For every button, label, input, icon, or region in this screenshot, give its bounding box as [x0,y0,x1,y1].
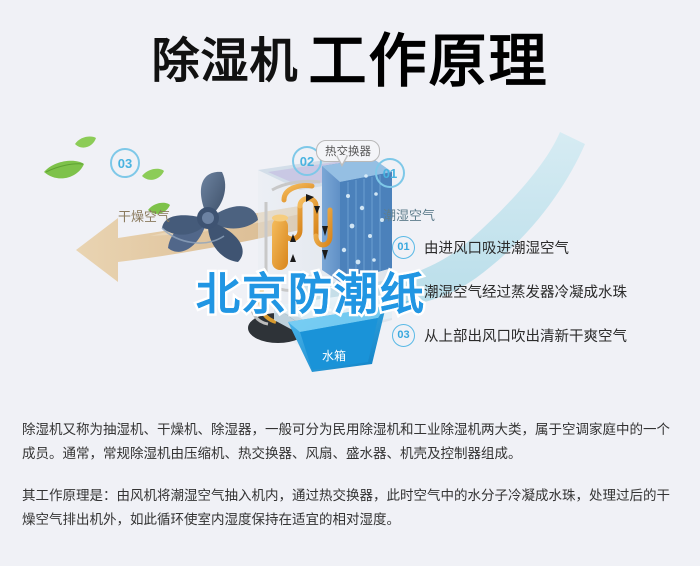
step-number: 03 [392,324,415,347]
step-number: 01 [392,236,415,259]
title-part-1: 除湿机 [151,38,298,86]
body-text-block: 除湿机又称为抽湿机、干燥机、除湿器，一般可分为民用除湿机和工业除湿机两大类，属于… [22,418,682,550]
heat-exchanger-callout: 热交换器 [316,140,380,162]
label-water-tank: 水箱 [322,347,346,364]
title-part-2: 工作原理 [309,33,549,91]
callout-tail-inner [337,155,347,164]
diagram-badge-01: 01 [375,158,405,188]
label-moist-air: 潮湿空气 [383,205,435,224]
paragraph-2: 其工作原理是：由风机将潮湿空气抽入机内，通过热交换器，此时空气中的水分子冷凝成水… [22,484,682,532]
label-dry-air: 干燥空气 [118,206,170,225]
step-list: 01 由进风口吸进潮湿空气 02 潮湿空气经过蒸发器冷凝成水珠 03 从上部出风… [392,236,692,368]
step-text: 由进风口吸进潮湿空气 [424,237,569,258]
fan-icon [162,172,258,262]
page-root: 除湿机 工作原理 [0,0,700,566]
step-text: 从上部出风口吹出清新干爽空气 [424,325,627,346]
leaf-icon-2 [75,136,96,147]
leaf-icon-1 [44,161,84,179]
page-title: 除湿机 工作原理 [0,22,700,102]
leaf-icon-3 [142,169,164,180]
paragraph-1: 除湿机又称为抽湿机、干燥机、除湿器，一般可分为民用除湿机和工业除湿机两大类，属于… [22,418,682,466]
list-item: 02 潮湿空气经过蒸发器冷凝成水珠 [392,280,692,302]
diagram-badge-03: 03 [110,148,140,178]
step-text: 潮湿空气经过蒸发器冷凝成水珠 [424,281,627,302]
list-item: 01 由进风口吸进潮湿空气 [392,236,692,258]
list-item: 03 从上部出风口吹出清新干爽空气 [392,324,692,346]
watermark-text: 北京防潮纸 [196,258,426,322]
